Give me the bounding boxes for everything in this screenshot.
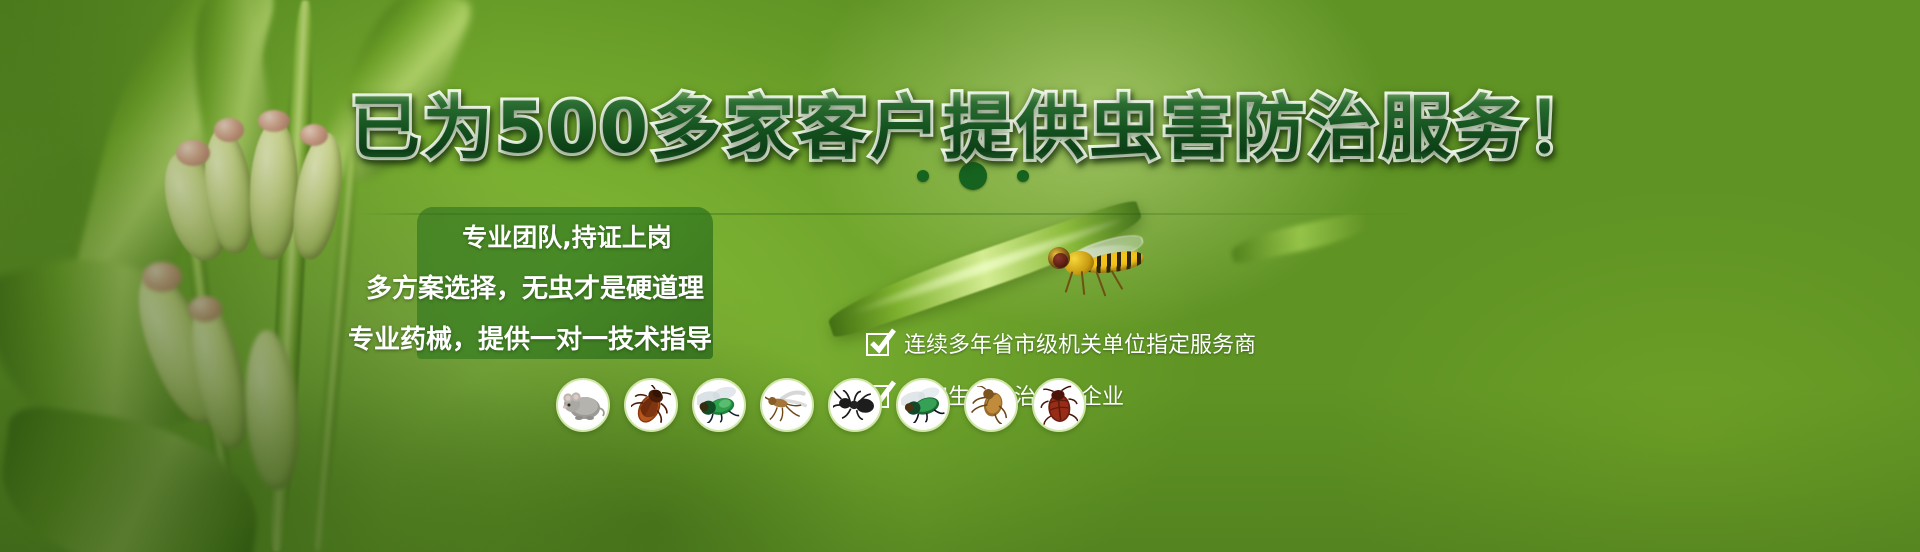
pest-control-banner: 已为500多家客户提供虫害防治服务！ 已为500多家客户提供虫害防治服务！ 已为… bbox=[0, 0, 1920, 552]
selling-point-line-3: 专业药械，提供一对一技术指导 bbox=[340, 319, 720, 356]
green-bottle-fly-icon bbox=[692, 378, 746, 432]
mouse-icon bbox=[556, 378, 610, 432]
selling-points-text: 专业团队,持证上岗 多方案选择，无虫才是硬道理 专业药械，提供一对一技术指导 bbox=[340, 212, 720, 362]
flea-icon bbox=[964, 378, 1018, 432]
selling-point-line-2: 多方案选择，无虫才是硬道理 bbox=[340, 268, 720, 305]
housefly-icon bbox=[896, 378, 950, 432]
page-title: 已为500多家客户提供虫害防治服务！ 已为500多家客户提供虫害防治服务！ 已为… bbox=[0, 72, 1920, 173]
selling-point-line-1: 专业团队,持证上岗 bbox=[340, 218, 720, 254]
ant-icon bbox=[828, 378, 882, 432]
pest-icon-row bbox=[556, 378, 1086, 432]
checkbox-checked-icon bbox=[866, 330, 893, 357]
credential-label: 连续多年省市级机关单位指定服务商 bbox=[904, 327, 1256, 359]
bedbug-icon bbox=[1032, 378, 1086, 432]
headline-text: 已为500多家客户提供虫害防治服务！ bbox=[350, 72, 1600, 173]
cockroach-icon bbox=[624, 378, 678, 432]
list-item: 连续多年省市级机关单位指定服务商 bbox=[866, 327, 1256, 359]
mosquito-icon bbox=[760, 378, 814, 432]
